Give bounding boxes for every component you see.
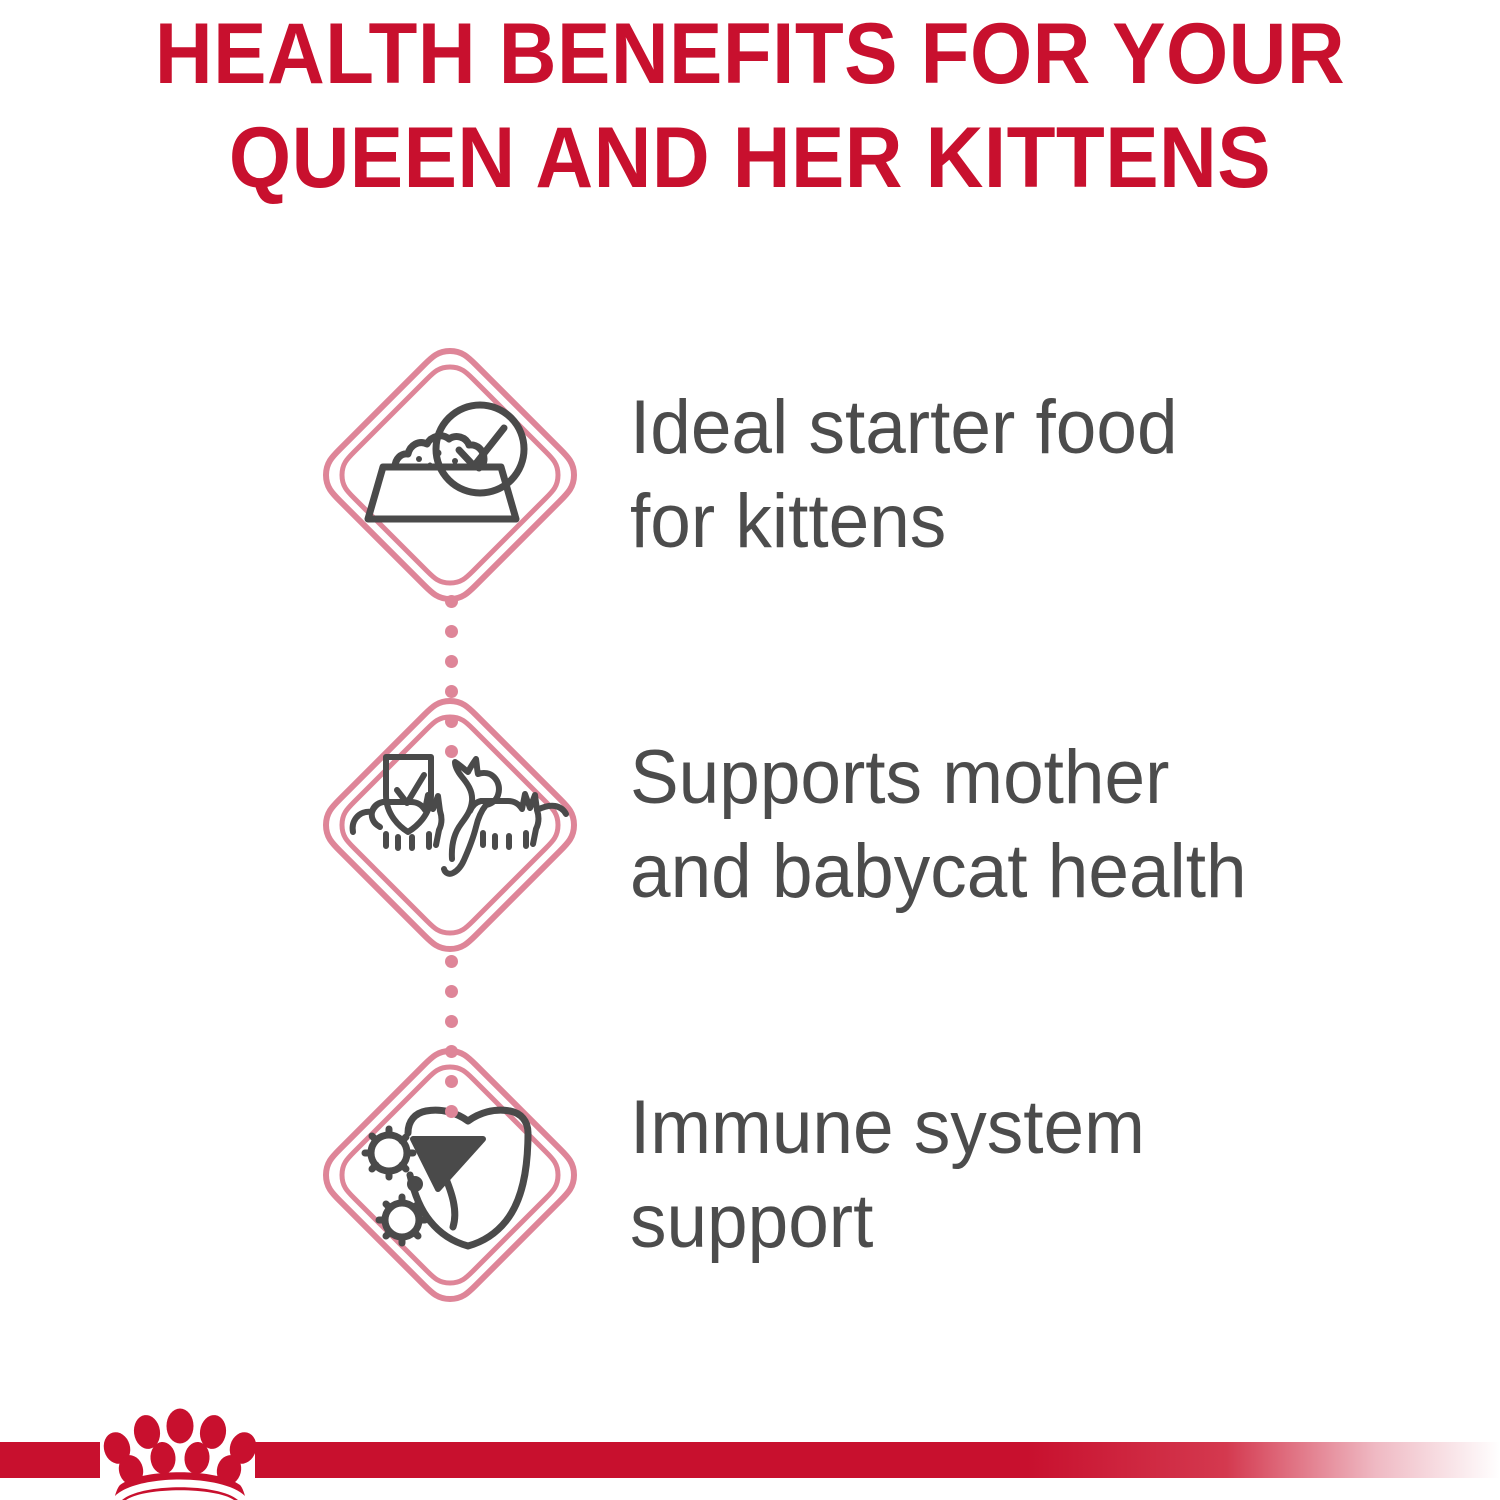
benefits-list: Ideal starter food for kittens [0, 300, 1500, 1350]
footer-bar-left-segment [0, 1442, 100, 1478]
connector-dot [445, 955, 458, 968]
connector-dot [445, 1105, 458, 1118]
connector-dot [445, 745, 458, 758]
benefit-text-line-1a: Ideal starter food [630, 381, 1408, 475]
connector-dot [445, 1015, 458, 1028]
diamond-frame-1 [316, 341, 584, 609]
benefit-text-line-1b: for kittens [630, 475, 1408, 569]
connector-dots-2 [444, 955, 458, 1118]
benefit-row-mother-and-babycat-health: Supports mother and babycat health [0, 650, 1500, 1000]
footer-brand-bar [0, 1390, 1500, 1500]
connector-dot [445, 1075, 458, 1088]
connector-dot [445, 715, 458, 728]
benefit-text-line-3b: support [630, 1175, 1408, 1269]
benefit-text-line-2a: Supports mother [630, 731, 1408, 825]
benefit-text-line-2b: and babycat health [630, 825, 1408, 919]
connector-dot [445, 685, 458, 698]
connector-dot [445, 655, 458, 668]
connector-dot [445, 625, 458, 638]
benefit-text-cell-2: Supports mother and babycat health [600, 731, 1500, 919]
benefit-text-cell-1: Ideal starter food for kittens [600, 381, 1500, 569]
benefit-row-immune-system-support: Immune system support [0, 1000, 1500, 1350]
connector-dot [445, 985, 458, 998]
connector-dot [445, 595, 458, 608]
food-bowl-check-icon [316, 341, 584, 609]
royal-canin-crown-icon [95, 1396, 265, 1500]
connector-dot [445, 1045, 458, 1058]
page-title-line-1: HEALTH BENEFITS FOR YOUR [53, 2, 1448, 106]
benefit-row-ideal-starter-food: Ideal starter food for kittens [0, 300, 1500, 650]
benefit-text-cell-3: Immune system support [600, 1081, 1500, 1269]
benefit-text-line-3a: Immune system [630, 1081, 1408, 1175]
connector-dots-1 [444, 595, 458, 758]
page-title: HEALTH BENEFITS FOR YOUR QUEEN AND HER K… [0, 2, 1500, 210]
health-benefits-infographic: HEALTH BENEFITS FOR YOUR QUEEN AND HER K… [0, 0, 1500, 1500]
page-title-line-2: QUEEN AND HER KITTENS [53, 106, 1448, 210]
footer-bar-right-segment [255, 1442, 1500, 1478]
benefit-icon-cell-1 [300, 325, 600, 625]
